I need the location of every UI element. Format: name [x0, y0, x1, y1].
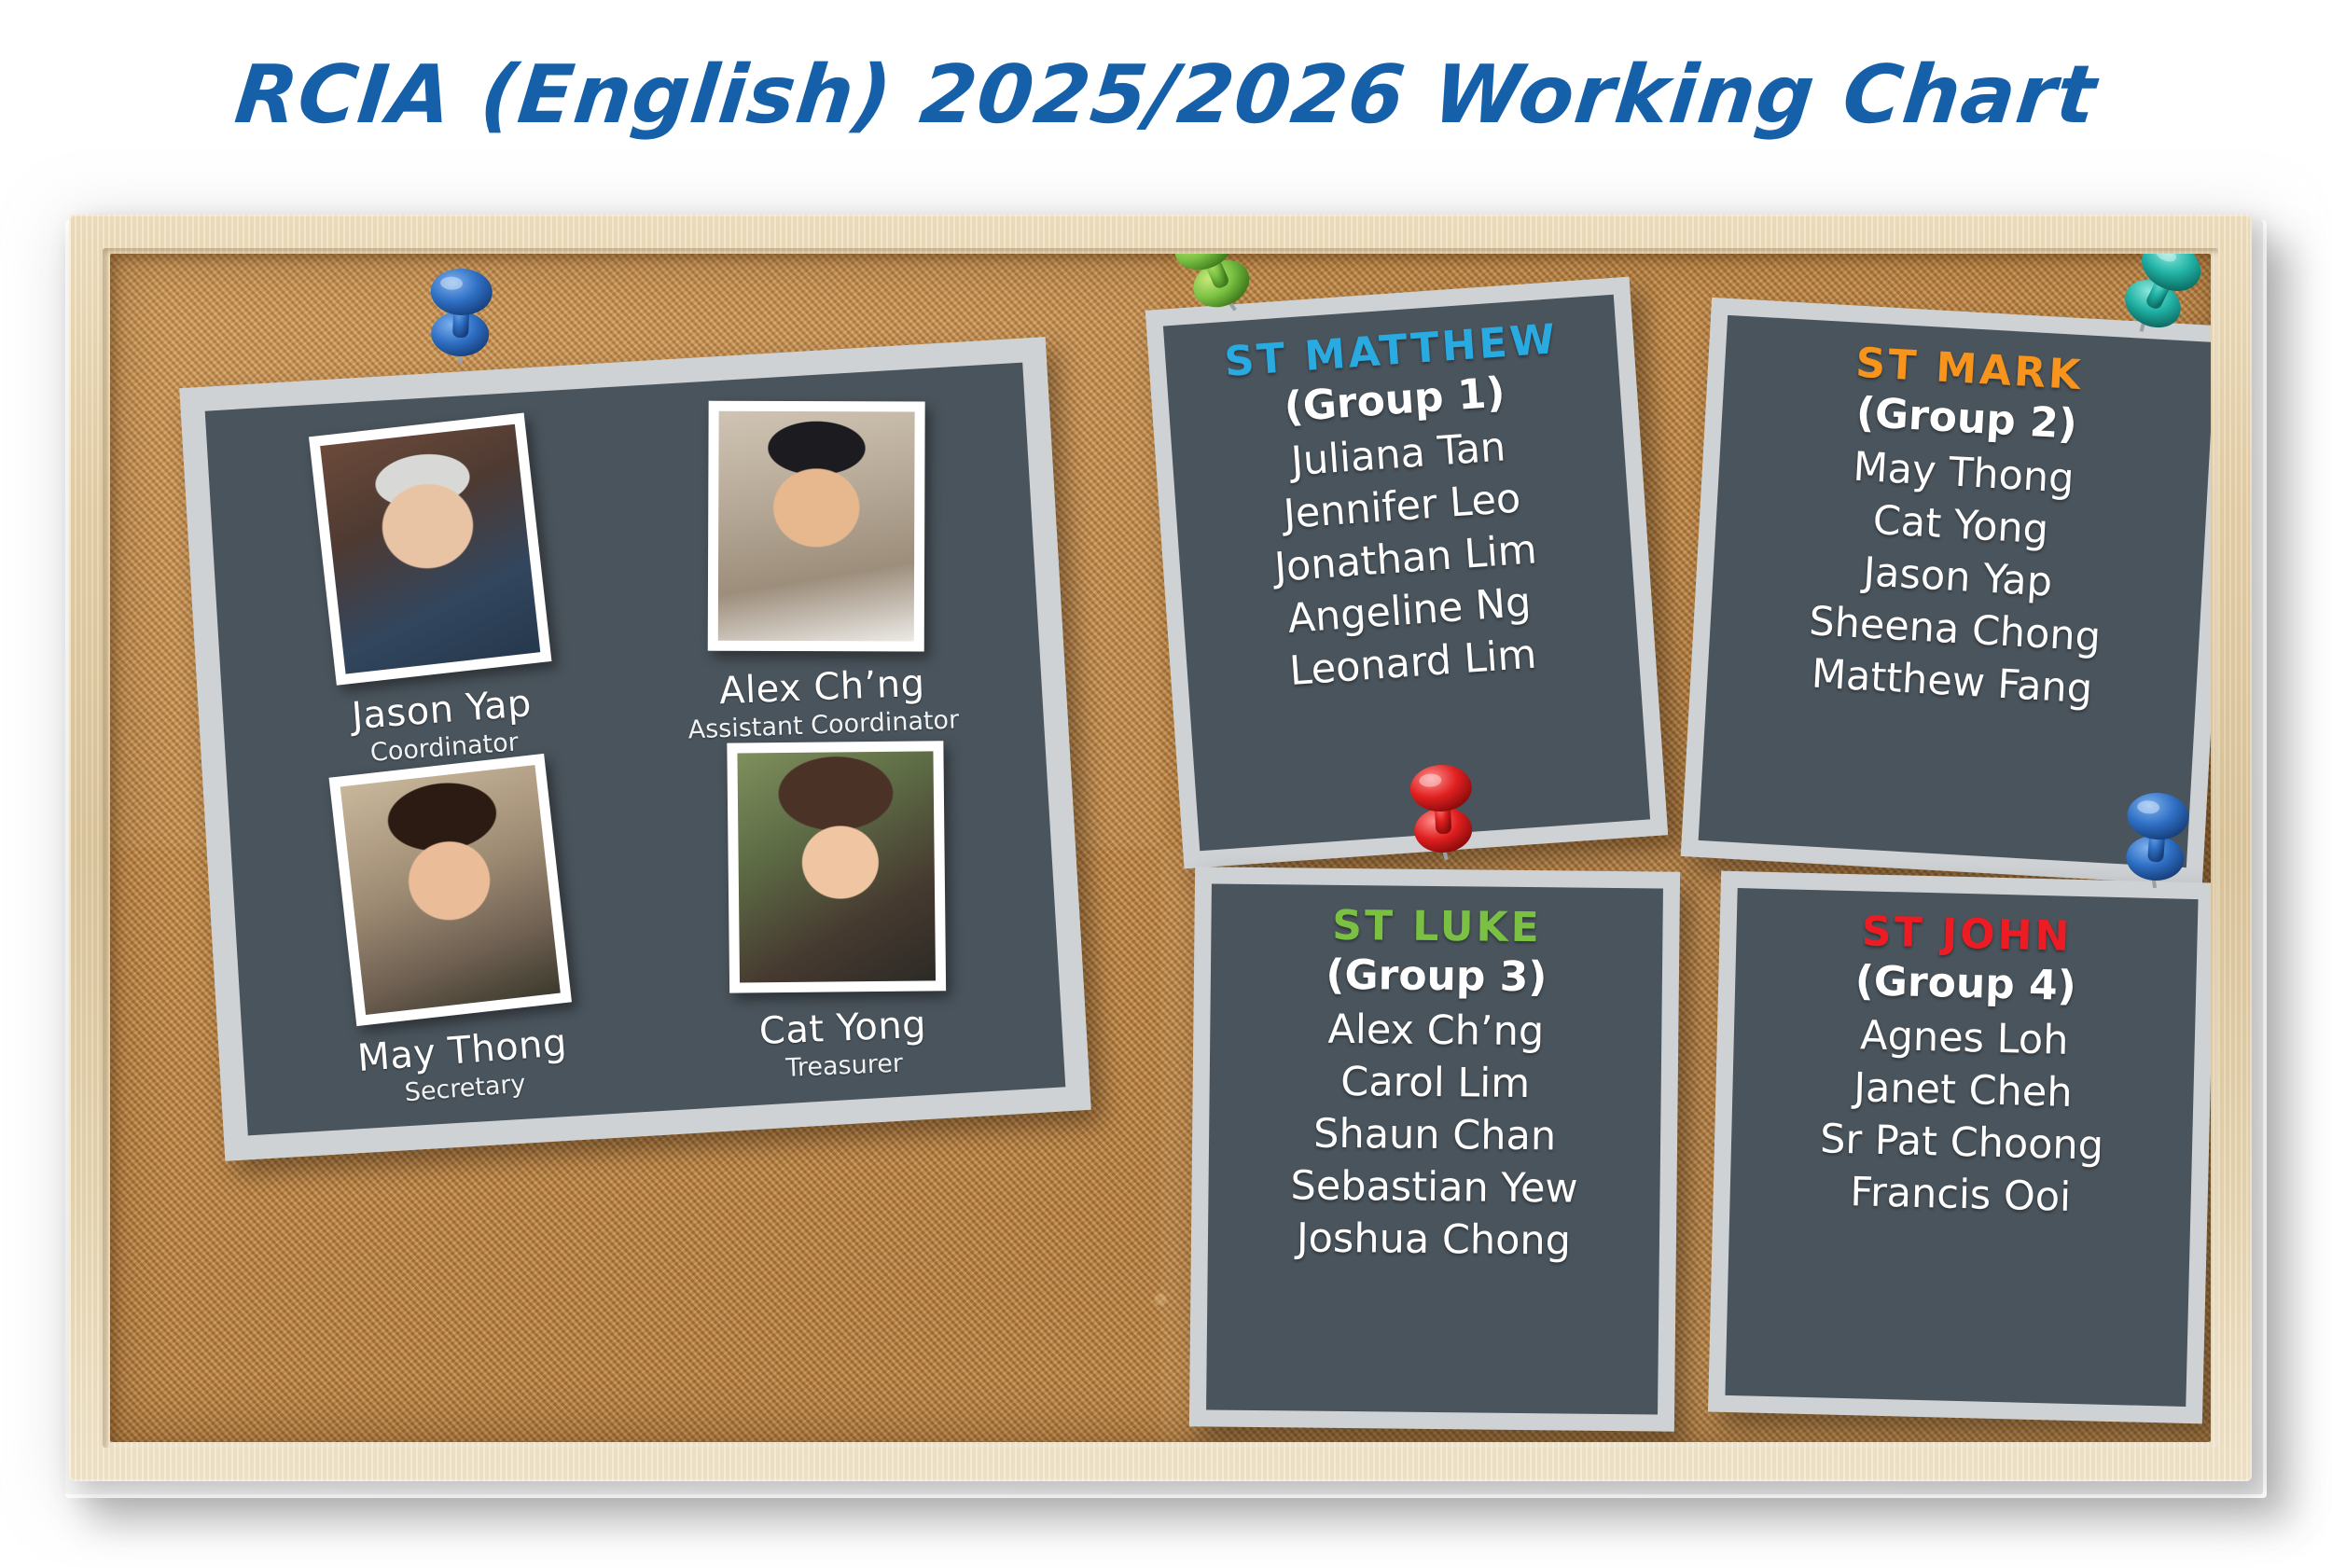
group-subtitle: (Group 3): [1326, 951, 1548, 1001]
group-card-matthew[interactable]: ST MATTHEW (Group 1) Juliana Tan Jennife…: [1145, 277, 1669, 869]
group-subtitle: (Group 2): [1855, 389, 2078, 449]
officer-name: Cat Yong: [758, 1004, 927, 1053]
photo-alex-chng: [717, 411, 914, 642]
page-title: RCIA (English) 2025/2026 Working Chart: [0, 49, 2332, 142]
group-card-john[interactable]: ST JOHN (Group 4) Agnes Loh Janet Cheh S…: [1708, 871, 2211, 1424]
officers-grid: Jason Yap Coordinator Alex Ch’ng Assista…: [205, 363, 1066, 1136]
avatar-frame: [707, 401, 924, 652]
group-member: Alex Ch’ng: [1327, 1005, 1544, 1059]
group-member: Cat Yong: [1871, 495, 2049, 557]
group-card-mark[interactable]: ST MARK (Group 2) May Thong Cat Yong Jas…: [1681, 298, 2211, 885]
avatar-frame: [328, 754, 571, 1026]
group-card-inner: ST MATTHEW (Group 1) Juliana Tan Jennife…: [1163, 295, 1650, 851]
group-member: Agnes Loh: [1860, 1010, 2070, 1067]
group-member: Shaun Chan: [1313, 1108, 1557, 1163]
officer-card-alex-chng[interactable]: Alex Ch’ng Assistant Coordinator: [618, 394, 1017, 750]
group-card-inner: ST LUKE (Group 3) Alex Ch’ng Carol Lim S…: [1206, 883, 1663, 1414]
officers-card-inner: Jason Yap Coordinator Alex Ch’ng Assista…: [205, 363, 1066, 1136]
group-member-list: May Thong Cat Yong Jason Yap Sheena Chon…: [1706, 435, 2209, 722]
group-card-inner: ST JOHN (Group 4) Agnes Loh Janet Cheh S…: [1725, 888, 2198, 1407]
pushpin-blue-icon: [414, 259, 507, 365]
officer-card-may-thong[interactable]: May Thong Secretary: [248, 751, 659, 1121]
cork-surface: Jason Yap Coordinator Alex Ch’ng Assista…: [110, 254, 2211, 1442]
photo-may-thong: [340, 765, 560, 1015]
officers-card[interactable]: Jason Yap Coordinator Alex Ch’ng Assista…: [179, 337, 1091, 1161]
group-card-inner: ST MARK (Group 2) May Thong Cat Yong Jas…: [1699, 315, 2211, 867]
officer-name: May Thong: [356, 1021, 569, 1080]
group-card-luke[interactable]: ST LUKE (Group 3) Alex Ch’ng Carol Lim S…: [1189, 867, 1680, 1431]
corkboard: Jason Yap Coordinator Alex Ch’ng Assista…: [49, 203, 2278, 1509]
officer-name: Alex Ch’ng: [718, 662, 925, 713]
avatar-frame: [309, 413, 551, 686]
avatar-frame: [727, 741, 946, 992]
group-member: Janet Cheh: [1853, 1062, 2074, 1120]
group-member: Sr Pat Choong: [1819, 1114, 2103, 1173]
officer-role: Treasurer: [785, 1049, 904, 1083]
officer-card-cat-yong[interactable]: Cat Yong Treasurer: [638, 734, 1037, 1091]
group-title: ST JOHN: [1861, 908, 2073, 960]
group-member-list: Agnes Loh Janet Cheh Sr Pat Choong Franc…: [1729, 1007, 2195, 1228]
group-member: Carol Lim: [1340, 1057, 1530, 1111]
officer-card-jason-yap[interactable]: Jason Yap Coordinator: [229, 410, 638, 779]
group-member: Francis Ooi: [1850, 1167, 2072, 1225]
group-title: ST LUKE: [1332, 902, 1542, 951]
photo-jason-yap: [320, 424, 540, 674]
group-member: Sebastian Yew: [1290, 1160, 1578, 1215]
group-subtitle: (Group 4): [1854, 957, 2076, 1010]
group-member: Joshua Chong: [1297, 1213, 1572, 1268]
group-member-list: Juliana Tan Jennifer Leo Jonathan Lim An…: [1172, 413, 1640, 705]
group-member-list: Alex Ch’ng Carol Lim Shaun Chan Sebastia…: [1208, 1003, 1662, 1269]
photo-cat-yong: [737, 751, 936, 982]
board-wooden-frame: Jason Yap Coordinator Alex Ch’ng Assista…: [69, 215, 2252, 1481]
